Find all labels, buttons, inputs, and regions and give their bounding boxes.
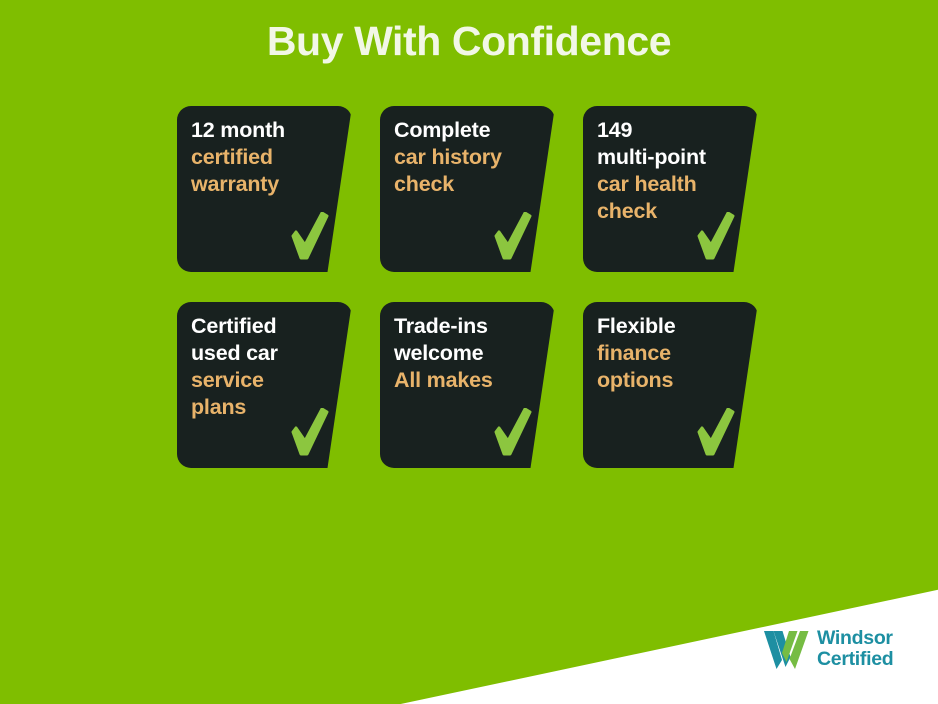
benefit-card-line: finance: [597, 340, 742, 367]
benefit-card-line: 149: [597, 117, 742, 144]
check-icon: [696, 408, 736, 456]
check-icon: [696, 212, 736, 260]
benefit-card-grid: 12 monthcertifiedwarrantyCompletecar his…: [177, 106, 759, 468]
benefit-card[interactable]: Flexiblefinanceoptions: [583, 302, 758, 468]
benefit-card-line: 12 month: [191, 117, 336, 144]
benefit-card-text: Completecar historycheck: [394, 117, 539, 198]
brand-name-line1: Windsor: [817, 628, 893, 649]
benefit-card-line: Complete: [394, 117, 539, 144]
benefit-card-text: Trade-inswelcomeAll makes: [394, 313, 539, 394]
benefit-card-line: All makes: [394, 367, 539, 394]
benefit-card-line: certified: [191, 144, 336, 171]
benefit-card-line: Flexible: [597, 313, 742, 340]
brand-logo: Windsor Certified: [762, 626, 893, 672]
benefit-card[interactable]: 149multi-pointcar healthcheck: [583, 106, 758, 272]
poster-canvas: Buy With Confidence 12 monthcertifiedwar…: [0, 0, 938, 704]
benefit-card-line: check: [394, 171, 539, 198]
benefit-card-text: Flexiblefinanceoptions: [597, 313, 742, 394]
windsor-w-icon: [762, 626, 810, 672]
check-icon: [290, 408, 330, 456]
page-title: Buy With Confidence: [0, 19, 938, 64]
benefit-card-text: Certifiedused carserviceplans: [191, 313, 336, 421]
benefit-card[interactable]: Certifiedused carserviceplans: [177, 302, 352, 468]
benefit-card-line: Trade-ins: [394, 313, 539, 340]
brand-name-line2: Certified: [817, 649, 893, 670]
benefit-card-line: Certified: [191, 313, 336, 340]
benefit-card-line: service: [191, 367, 336, 394]
benefit-card[interactable]: Trade-inswelcomeAll makes: [380, 302, 555, 468]
benefit-card-line: car history: [394, 144, 539, 171]
benefit-card-line: multi-point: [597, 144, 742, 171]
benefit-card-line: car health: [597, 171, 742, 198]
benefit-card-line: warranty: [191, 171, 336, 198]
check-icon: [493, 212, 533, 260]
check-icon: [493, 408, 533, 456]
benefit-card-line: welcome: [394, 340, 539, 367]
benefit-card[interactable]: Completecar historycheck: [380, 106, 555, 272]
benefit-card-line: options: [597, 367, 742, 394]
benefit-card-text: 12 monthcertifiedwarranty: [191, 117, 336, 198]
benefit-card[interactable]: 12 monthcertifiedwarranty: [177, 106, 352, 272]
check-icon: [290, 212, 330, 260]
brand-logo-text: Windsor Certified: [817, 628, 893, 670]
benefit-card-line: used car: [191, 340, 336, 367]
benefit-card-text: 149multi-pointcar healthcheck: [597, 117, 742, 225]
